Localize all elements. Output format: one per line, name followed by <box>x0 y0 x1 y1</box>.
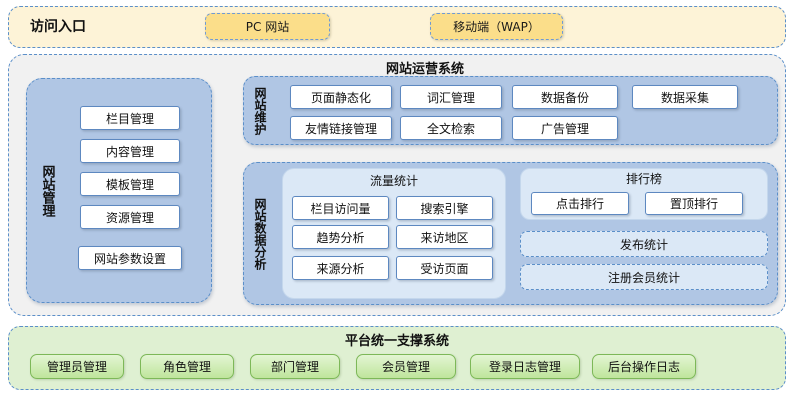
site-management-item-3[interactable]: 资源管理 <box>80 205 180 229</box>
site-management-label: 网站管理 <box>36 128 58 254</box>
access-chip-pc[interactable]: PC 网站 <box>205 13 330 40</box>
flow-statistics-title: 流量统计 <box>282 172 506 188</box>
site-management-item-2[interactable]: 模板管理 <box>80 172 180 196</box>
maintenance-item-fulltext-search[interactable]: 全文检索 <box>400 116 502 140</box>
platform-item-login-log[interactable]: 登录日志管理 <box>470 354 580 379</box>
access-chip-wap[interactable]: 移动端（WAP） <box>430 13 563 40</box>
platform-item-department[interactable]: 部门管理 <box>250 354 340 379</box>
access-entry-label: 访问入口 <box>30 14 140 38</box>
platform-item-member[interactable]: 会员管理 <box>356 354 456 379</box>
data-analysis-label: 网站数据分析 <box>250 178 270 290</box>
site-maintenance-label: 网站维护 <box>250 80 270 142</box>
platform-item-admin[interactable]: 管理员管理 <box>30 354 124 379</box>
maintenance-item-advertising[interactable]: 广告管理 <box>512 116 618 140</box>
flow-item-visitor-region[interactable]: 来访地区 <box>396 225 493 249</box>
ranking-item-click[interactable]: 点击排行 <box>531 192 629 215</box>
maintenance-item-friendly-link[interactable]: 友情链接管理 <box>290 116 392 140</box>
ranking-title: 排行榜 <box>520 170 768 186</box>
platform-item-backend-log[interactable]: 后台操作日志 <box>592 354 696 379</box>
ranking-item-pinned[interactable]: 置顶排行 <box>645 192 743 215</box>
stat-registered-members[interactable]: 注册会员统计 <box>520 264 768 290</box>
maintenance-item-vocabulary[interactable]: 词汇管理 <box>400 85 502 109</box>
maintenance-item-page-static[interactable]: 页面静态化 <box>290 85 392 109</box>
platform-item-role[interactable]: 角色管理 <box>140 354 234 379</box>
flow-item-source-analysis[interactable]: 来源分析 <box>292 256 389 280</box>
flow-item-search-engine[interactable]: 搜索引擎 <box>396 196 493 220</box>
flow-item-visited-pages[interactable]: 受访页面 <box>396 256 493 280</box>
flow-item-trend-analysis[interactable]: 趋势分析 <box>292 225 389 249</box>
platform-support-title: 平台统一支撑系统 <box>8 330 786 348</box>
flow-item-column-visits[interactable]: 栏目访问量 <box>292 196 389 220</box>
operation-system-title: 网站运营系统 <box>330 58 520 76</box>
stat-publish[interactable]: 发布统计 <box>520 231 768 257</box>
site-management-item-4[interactable]: 网站参数设置 <box>78 246 182 270</box>
maintenance-item-collection[interactable]: 数据采集 <box>632 85 738 109</box>
site-management-item-0[interactable]: 栏目管理 <box>80 106 180 130</box>
site-management-item-1[interactable]: 内容管理 <box>80 139 180 163</box>
maintenance-item-backup[interactable]: 数据备份 <box>512 85 618 109</box>
